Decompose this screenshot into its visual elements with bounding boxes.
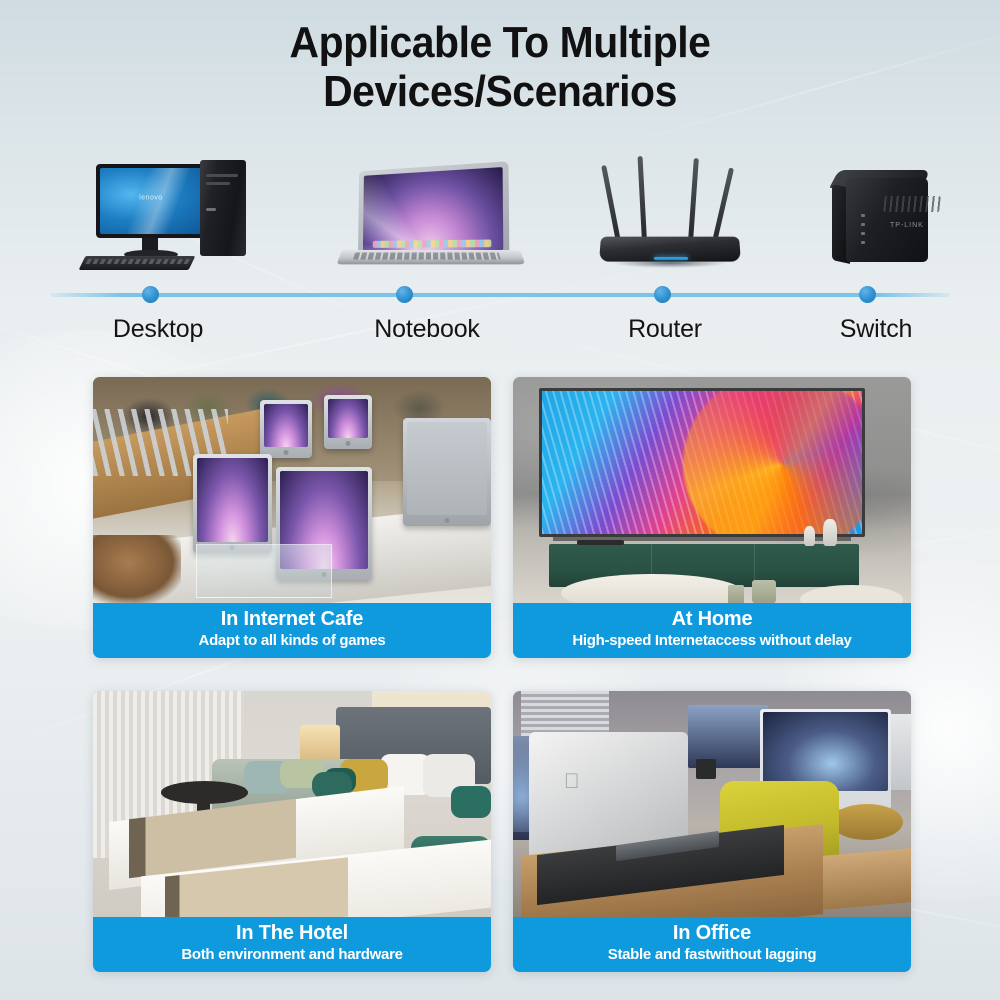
- timeline-dot-router: [654, 286, 671, 303]
- device-timeline: [50, 293, 950, 297]
- scenario-title: In Office: [519, 922, 905, 946]
- timeline-dot-notebook: [396, 286, 413, 303]
- device-label-switch: Switch: [840, 315, 912, 344]
- device-label-desktop: Desktop: [113, 315, 203, 344]
- scenario-title: In The Hotel: [99, 922, 485, 946]
- scenario-subtitle: High-speed Internetaccess without delay: [519, 632, 905, 650]
- device-label-router: Router: [628, 315, 702, 344]
- scenario-card-hotel[interactable]: In The Hotel Both environment and hardwa…: [93, 691, 491, 972]
- network-switch-icon: TP-LINK: [822, 164, 942, 276]
- scenario-subtitle: Stable and fastwithout lagging: [519, 946, 905, 964]
- caption-bar: In Internet Cafe Adapt to all kinds of g…: [93, 603, 491, 658]
- caption-bar: In Office Stable and fastwithout lagging: [513, 917, 911, 972]
- scenario-card-at-home[interactable]: At Home High-speed Internetaccess withou…: [513, 377, 911, 658]
- device-label-notebook: Notebook: [374, 315, 479, 344]
- timeline-dot-desktop: [142, 286, 159, 303]
- device-illustration-row: lenovo TP-LINK: [0, 146, 1000, 276]
- scenario-title: At Home: [519, 608, 905, 632]
- internet-cafe-photo: [93, 377, 491, 603]
- page-title: Applicable To Multiple Devices/Scenarios: [35, 18, 965, 117]
- living-room-tv-photo: [513, 377, 911, 603]
- headline-line-2: Devices/Scenarios: [35, 67, 965, 116]
- timeline-dot-switch: [859, 286, 876, 303]
- wifi-router-icon: [596, 154, 746, 276]
- caption-bar: At Home High-speed Internetaccess withou…: [513, 603, 911, 658]
- scenario-subtitle: Both environment and hardware: [99, 946, 485, 964]
- hotel-room-photo: [93, 691, 491, 917]
- scenario-subtitle: Adapt to all kinds of games: [99, 632, 485, 650]
- office-desks-photo: : [513, 691, 911, 917]
- scenario-card-office[interactable]:  In Office Stable and fastwithout laggi…: [513, 691, 911, 972]
- television-screen: [539, 388, 865, 537]
- caption-bar: In The Hotel Both environment and hardwa…: [93, 917, 491, 972]
- device-label-row: Desktop Notebook Router Switch: [0, 315, 1000, 355]
- desktop-computer-icon: lenovo: [76, 156, 256, 276]
- scenario-title: In Internet Cafe: [99, 608, 485, 632]
- laptop-icon: [336, 166, 526, 276]
- scenario-card-internet-cafe[interactable]: In Internet Cafe Adapt to all kinds of g…: [93, 377, 491, 658]
- headline-line-1: Applicable To Multiple: [290, 18, 711, 67]
